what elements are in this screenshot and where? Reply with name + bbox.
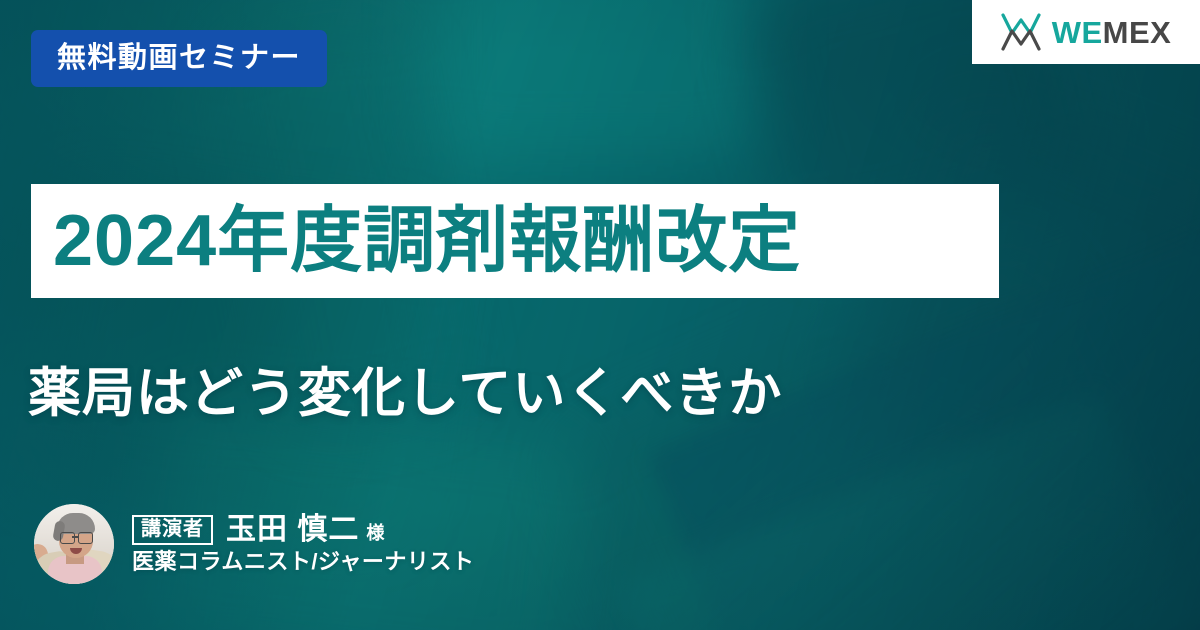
- seminar-type-badge-label: 無料動画セミナー: [57, 44, 301, 73]
- wemex-wordmark-primary: WE: [1052, 15, 1103, 50]
- speaker-role-badge: 講演者: [132, 515, 213, 545]
- wemex-x-mark-icon: [1001, 13, 1041, 51]
- wemex-logo: WEMEX: [972, 0, 1200, 64]
- speaker-title: 医薬コラムニスト/ジャーナリスト: [132, 551, 474, 573]
- seminar-banner: 無料動画セミナー WEMEX 2024年度調剤報酬改定 薬局はどう変化していくべ…: [0, 0, 1200, 630]
- wemex-wordmark: WEMEX: [1052, 17, 1172, 48]
- speaker-honorific: 様: [366, 524, 384, 542]
- page-title: 2024年度調剤報酬改定: [53, 205, 801, 277]
- title-band: 2024年度調剤報酬改定: [31, 184, 999, 298]
- speaker-name: 玉田 慎二: [226, 515, 359, 545]
- page-subtitle: 薬局はどう変化していくべきか: [28, 364, 782, 425]
- speaker-name-row: 講演者 玉田 慎二 様: [132, 515, 474, 545]
- speaker-avatar: [34, 504, 114, 584]
- speaker-info: 講演者 玉田 慎二 様 医薬コラムニスト/ジャーナリスト: [132, 515, 474, 573]
- seminar-type-badge: 無料動画セミナー: [31, 30, 327, 87]
- speaker-block: 講演者 玉田 慎二 様 医薬コラムニスト/ジャーナリスト: [34, 504, 474, 584]
- wemex-wordmark-secondary: MEX: [1103, 15, 1172, 50]
